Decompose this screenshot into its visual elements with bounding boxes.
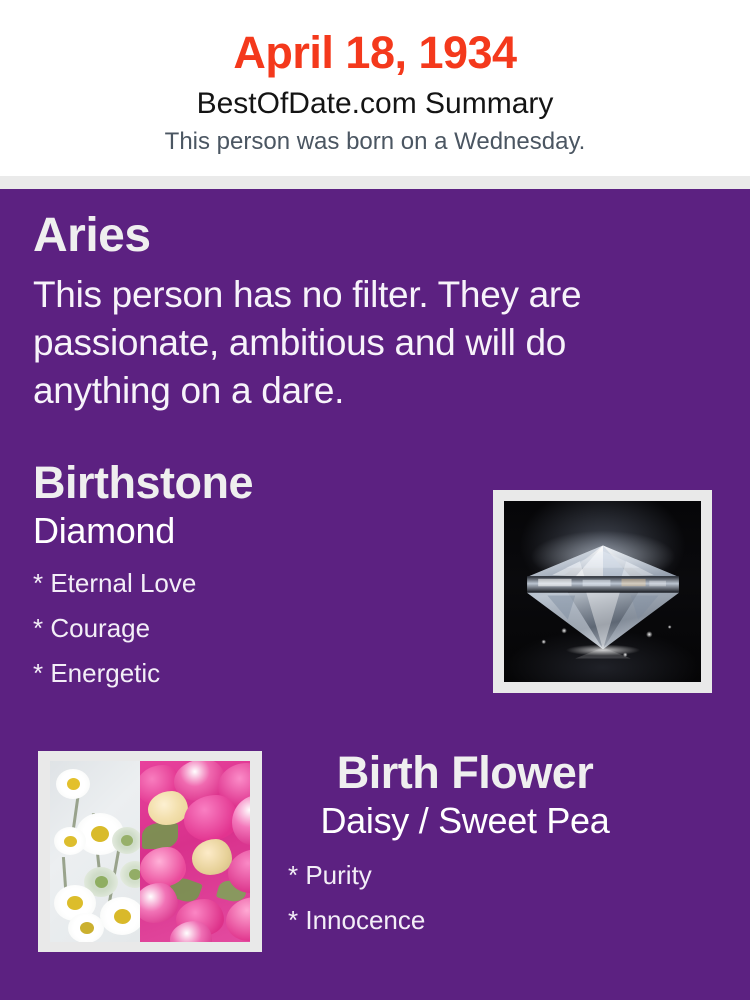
header-divider	[0, 176, 750, 189]
page-title-date: April 18, 1934	[0, 26, 750, 80]
birthstone-image	[504, 501, 701, 682]
birthstone-section: Birthstone Diamond * Eternal Love * Cour…	[33, 457, 473, 696]
birth-flower-section: Birth Flower Daisy / Sweet Pea * Purity …	[270, 747, 660, 943]
site-name-subtitle: BestOfDate.com Summary	[0, 84, 750, 124]
list-item: * Courage	[33, 606, 473, 651]
diamond-icon	[504, 501, 701, 682]
page-header: April 18, 1934 BestOfDate.com Summary Th…	[0, 0, 750, 176]
list-item: * Purity	[270, 853, 660, 898]
birthstone-image-frame	[493, 490, 712, 693]
list-item: * Energetic	[33, 651, 473, 696]
zodiac-description: This person has no filter. They are pass…	[33, 271, 673, 415]
birth-flower-heading: Birth Flower	[270, 747, 660, 799]
born-weekday-text: This person was born on a Wednesday.	[0, 126, 750, 158]
birth-flower-image	[50, 761, 250, 942]
birthstone-trait-list: * Eternal Love * Courage * Energetic	[33, 561, 473, 696]
flower-split-photo	[50, 761, 250, 942]
birth-flower-image-frame	[38, 751, 262, 952]
daisy-photo	[50, 761, 140, 942]
zodiac-section: Aries This person has no filter. They ar…	[33, 207, 673, 415]
birthstone-name: Diamond	[33, 509, 473, 553]
sweet-pea-photo	[140, 761, 250, 942]
birth-flower-trait-list: * Purity * Innocence	[270, 853, 660, 943]
birth-flower-name: Daisy / Sweet Pea	[270, 799, 660, 843]
birthstone-heading: Birthstone	[33, 457, 473, 509]
summary-panel: Aries This person has no filter. They ar…	[0, 189, 750, 1000]
list-item: * Eternal Love	[33, 561, 473, 606]
zodiac-sign-title: Aries	[33, 207, 673, 265]
diamond-shape-icon	[510, 514, 695, 662]
list-item: * Innocence	[270, 898, 660, 943]
